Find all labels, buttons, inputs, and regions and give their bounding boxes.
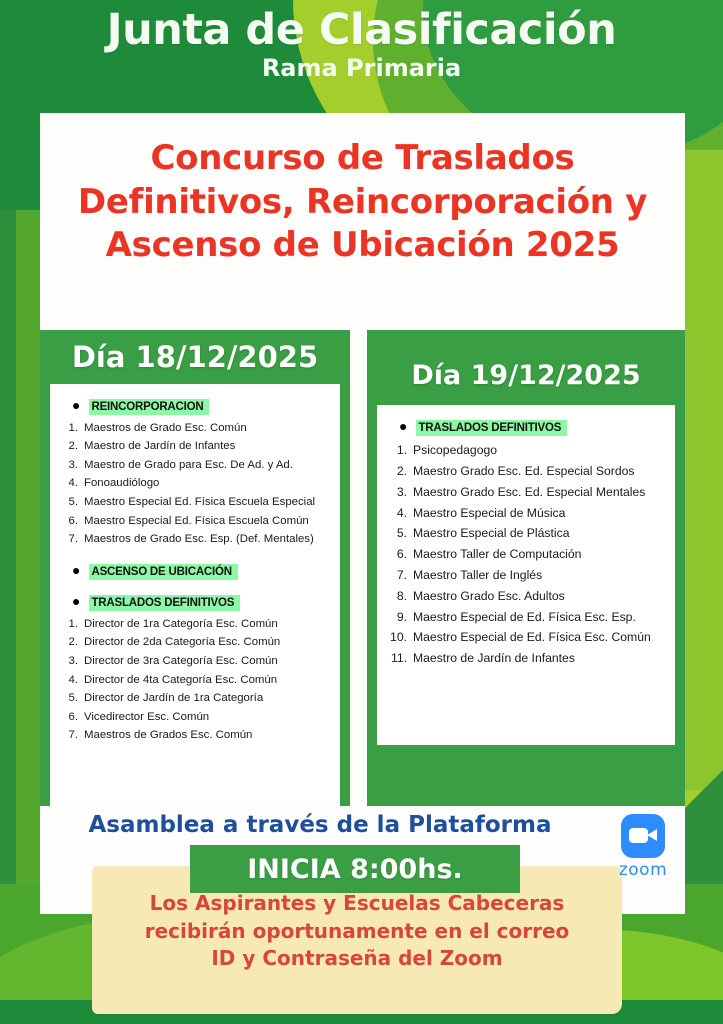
- page-title-line-2: Definitivos, Reincorporación y: [52, 181, 673, 225]
- item-label: Maestro Taller de Inglés: [413, 569, 542, 581]
- item-number: 5.: [383, 527, 407, 539]
- zoom-camera-icon: [621, 814, 665, 858]
- list-item: 3.Director de 3ra Categoría Esc. Común: [56, 652, 334, 671]
- item-number: 9.: [383, 611, 407, 623]
- assembly-text: Asamblea a través de la Plataforma: [40, 812, 600, 838]
- bullet-icon: ●: [72, 594, 80, 608]
- bullet-icon: ●: [399, 419, 407, 433]
- item-label: Director de 3ra Categoría Esc. Común: [84, 656, 278, 667]
- list-item: 2.Maestro Grado Esc. Ed. Especial Sordos: [383, 461, 669, 482]
- poster-root: Junta de Clasificación Rama Primaria Con…: [0, 0, 723, 1024]
- item-number: 5.: [56, 497, 78, 508]
- camera-lens-shape: [647, 829, 657, 841]
- list-item: 11.Maestro de Jardín de Infantes: [383, 648, 669, 669]
- item-number: 10.: [383, 631, 407, 643]
- item-label: Director de Jardín de 1ra Categoría: [84, 693, 263, 704]
- list-item: 4.Fonoaudiólogo: [56, 475, 334, 494]
- item-label: Maestro de Grado para Esc. De Ad. y Ad.: [84, 460, 293, 471]
- list-item: 8.Maestro Grado Esc. Adultos: [383, 586, 669, 607]
- list-item: 1.Director de 1ra Categoría Esc. Común: [56, 615, 334, 634]
- item-label: Maestro Especial Ed. Física Escuela Comú…: [84, 516, 309, 527]
- page-title: Concurso de Traslados Definitivos, Reinc…: [40, 113, 685, 268]
- section-header-traslados-left: ● TRASLADOS DEFINITIVOS: [56, 594, 334, 611]
- day-column-18: Día 18/12/2025 ● REINCORPORACION 1.Maest…: [40, 330, 350, 806]
- section-label-ascenso: ASCENSO DE UBICACIÓN: [89, 564, 237, 580]
- camera-body-shape: [629, 828, 648, 843]
- list-item: 1.Psicopedagogo: [383, 440, 669, 461]
- item-number: 7.: [383, 569, 407, 581]
- list-reincorporacion: 1.Maestros de Grado Esc. Común 2.Maestro…: [56, 419, 334, 549]
- poster-header: Junta de Clasificación Rama Primaria: [0, 0, 723, 112]
- item-number: 1.: [383, 444, 407, 456]
- organization-subtitle: Rama Primaria: [0, 55, 723, 81]
- list-item: 3.Maestro de Grado para Esc. De Ad. y Ad…: [56, 456, 334, 475]
- list-item: 5.Maestro Especial de Plástica: [383, 523, 669, 544]
- start-time-badge: INICIA 8:00hs.: [190, 845, 520, 893]
- list-item: 4.Director de 4ta Categoría Esc. Común: [56, 671, 334, 690]
- item-number: 2.: [56, 637, 78, 648]
- section-label-reincorporacion: REINCORPORACION: [89, 399, 209, 415]
- page-title-line-1: Concurso de Traslados: [52, 137, 673, 181]
- list-item: 2.Maestro de Jardín de Infantes: [56, 438, 334, 457]
- item-label: Vicedirector Esc. Común: [84, 712, 209, 723]
- list-item: 5.Director de Jardín de 1ra Categoría: [56, 690, 334, 709]
- item-number: 4.: [383, 507, 407, 519]
- item-label: Fonoaudiólogo: [84, 478, 159, 489]
- item-number: 11.: [383, 652, 407, 664]
- list-traslados-left: 1.Director de 1ra Categoría Esc. Común 2…: [56, 615, 334, 745]
- day-columns: Día 18/12/2025 ● REINCORPORACION 1.Maest…: [40, 330, 685, 808]
- list-item: 6.Maestro Taller de Computación: [383, 544, 669, 565]
- day-label-18: Día 18/12/2025: [40, 330, 350, 384]
- day-label-19: Día 19/12/2025: [367, 330, 685, 405]
- list-item: 7.Maestros de Grado Esc. Esp. (Def. Ment…: [56, 531, 334, 550]
- item-number: 3.: [383, 486, 407, 498]
- item-number: 5.: [56, 693, 78, 704]
- list-item: 5.Maestro Especial Ed. Física Escuela Es…: [56, 493, 334, 512]
- item-number: 7.: [56, 534, 78, 545]
- item-number: 1.: [56, 423, 78, 434]
- item-number: 8.: [383, 590, 407, 602]
- item-label: Maestro Especial de Ed. Física Esc. Comú…: [413, 631, 651, 643]
- section-header-ascenso: ● ASCENSO DE UBICACIÓN: [56, 563, 334, 580]
- page-title-line-3: Ascenso de Ubicación 2025: [52, 224, 673, 268]
- item-number: 3.: [56, 460, 78, 471]
- bullet-icon: ●: [72, 563, 80, 577]
- item-label: Psicopedagogo: [413, 444, 497, 456]
- list-item: 1.Maestros de Grado Esc. Común: [56, 419, 334, 438]
- item-number: 4.: [56, 478, 78, 489]
- list-item: 3.Maestro Grado Esc. Ed. Especial Mental…: [383, 482, 669, 503]
- day-column-19: Día 19/12/2025 ● TRASLADOS DEFINITIVOS 1…: [367, 330, 685, 806]
- item-number: 6.: [383, 548, 407, 560]
- list-item: 10.Maestro Especial de Ed. Física Esc. C…: [383, 627, 669, 648]
- item-number: 1.: [56, 619, 78, 630]
- day-panel-19: ● TRASLADOS DEFINITIVOS 1.Psicopedagogo …: [377, 405, 675, 745]
- list-item: 7.Maestros de Grados Esc. Común: [56, 727, 334, 746]
- list-item: 4.Maestro Especial de Música: [383, 502, 669, 523]
- decorative-band-left-dark: [0, 210, 16, 910]
- day-panel-18: ● REINCORPORACION 1.Maestros de Grado Es…: [50, 384, 340, 806]
- list-item: 2.Director de 2da Categoría Esc. Común: [56, 634, 334, 653]
- item-label: Maestro Taller de Computación: [413, 548, 581, 560]
- item-label: Maestro Grado Esc. Ed. Especial Mentales: [413, 486, 645, 498]
- item-number: 2.: [56, 441, 78, 452]
- item-label: Maestro Especial de Música: [413, 507, 565, 519]
- item-label: Maestro Especial Ed. Física Escuela Espe…: [84, 497, 315, 508]
- zoom-wordmark: zoom: [608, 860, 678, 880]
- item-label: Director de 4ta Categoría Esc. Común: [84, 675, 277, 686]
- item-label: Director de 1ra Categoría Esc. Común: [84, 619, 278, 630]
- note-line-1: Los Aspirantes y Escuelas Cabeceras: [92, 890, 622, 918]
- item-label: Maestro de Jardín de Infantes: [413, 652, 575, 664]
- bullet-icon: ●: [72, 398, 80, 412]
- note-line-2: recibirán oportunamente en el correo: [92, 918, 622, 946]
- item-label: Maestros de Grado Esc. Esp. (Def. Mental…: [84, 534, 314, 545]
- item-label: Maestros de Grados Esc. Común: [84, 730, 252, 741]
- item-number: 3.: [56, 656, 78, 667]
- list-item: 7.Maestro Taller de Inglés: [383, 565, 669, 586]
- item-label: Maestros de Grado Esc. Común: [84, 423, 247, 434]
- list-traslados-right: 1.Psicopedagogo 2.Maestro Grado Esc. Ed.…: [383, 440, 669, 669]
- item-label: Maestro Grado Esc. Ed. Especial Sordos: [413, 465, 635, 477]
- item-label: Maestro Grado Esc. Adultos: [413, 590, 565, 602]
- item-number: 4.: [56, 675, 78, 686]
- note-line-3: ID y Contraseña del Zoom: [92, 945, 622, 973]
- section-header-traslados-right: ● TRASLADOS DEFINITIVOS: [383, 419, 669, 436]
- section-label-traslados-right: TRASLADOS DEFINITIVOS: [416, 420, 567, 436]
- item-number: 6.: [56, 516, 78, 527]
- section-label-traslados-left: TRASLADOS DEFINITIVOS: [89, 595, 240, 611]
- organization-title: Junta de Clasificación: [0, 8, 723, 53]
- item-number: 7.: [56, 730, 78, 741]
- item-number: 2.: [383, 465, 407, 477]
- item-label: Maestro de Jardín de Infantes: [84, 441, 235, 452]
- item-label: Maestro Especial de Ed. Física Esc. Esp.: [413, 611, 636, 623]
- list-item: 6.Maestro Especial Ed. Física Escuela Co…: [56, 512, 334, 531]
- item-number: 6.: [56, 712, 78, 723]
- item-label: Director de 2da Categoría Esc. Común: [84, 637, 280, 648]
- section-header-reincorporacion: ● REINCORPORACION: [56, 398, 334, 415]
- list-item: 6.Vicedirector Esc. Común: [56, 708, 334, 727]
- zoom-logo: zoom: [608, 814, 678, 880]
- start-time-label: INICIA 8:00hs.: [247, 854, 463, 885]
- item-label: Maestro Especial de Plástica: [413, 527, 569, 539]
- list-item: 9.Maestro Especial de Ed. Física Esc. Es…: [383, 606, 669, 627]
